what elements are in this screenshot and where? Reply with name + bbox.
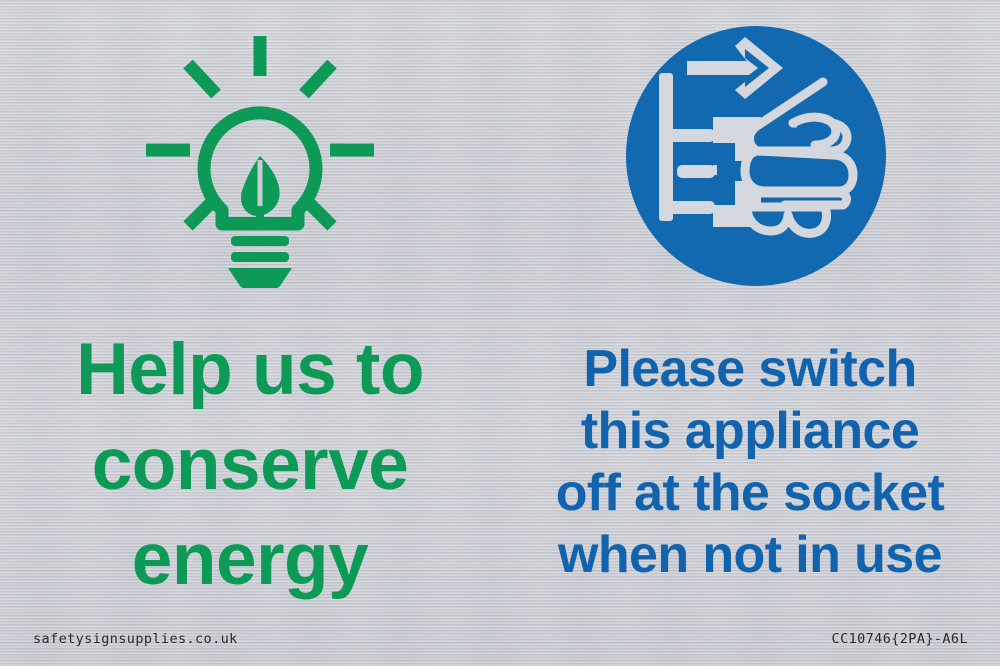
message-line: energy: [0, 512, 500, 607]
message-line: this appliance: [500, 400, 1000, 462]
conserve-energy-message: Help us to conserve energy: [0, 322, 500, 607]
message-line: off at the socket: [500, 462, 1000, 524]
energy-saving-lightbulb-with-leaf-icon: [140, 28, 380, 288]
message-line: Please switch: [500, 338, 1000, 400]
icon-row: [0, 0, 1000, 310]
message-line: Help us to: [0, 322, 500, 417]
safety-sign-panel: Help us to conserve energy Please switch…: [0, 0, 1000, 666]
message-line: conserve: [0, 417, 500, 512]
disconnect-mains-plug-from-socket-icon: [625, 25, 887, 287]
switch-off-appliance-message: Please switch this appliance off at the …: [500, 338, 1000, 586]
product-code-footer-text: CC10746{2PA}-A6L: [832, 631, 968, 647]
message-line: when not in use: [500, 524, 1000, 586]
website-footer-text: safetysignsupplies.co.uk: [33, 631, 238, 647]
